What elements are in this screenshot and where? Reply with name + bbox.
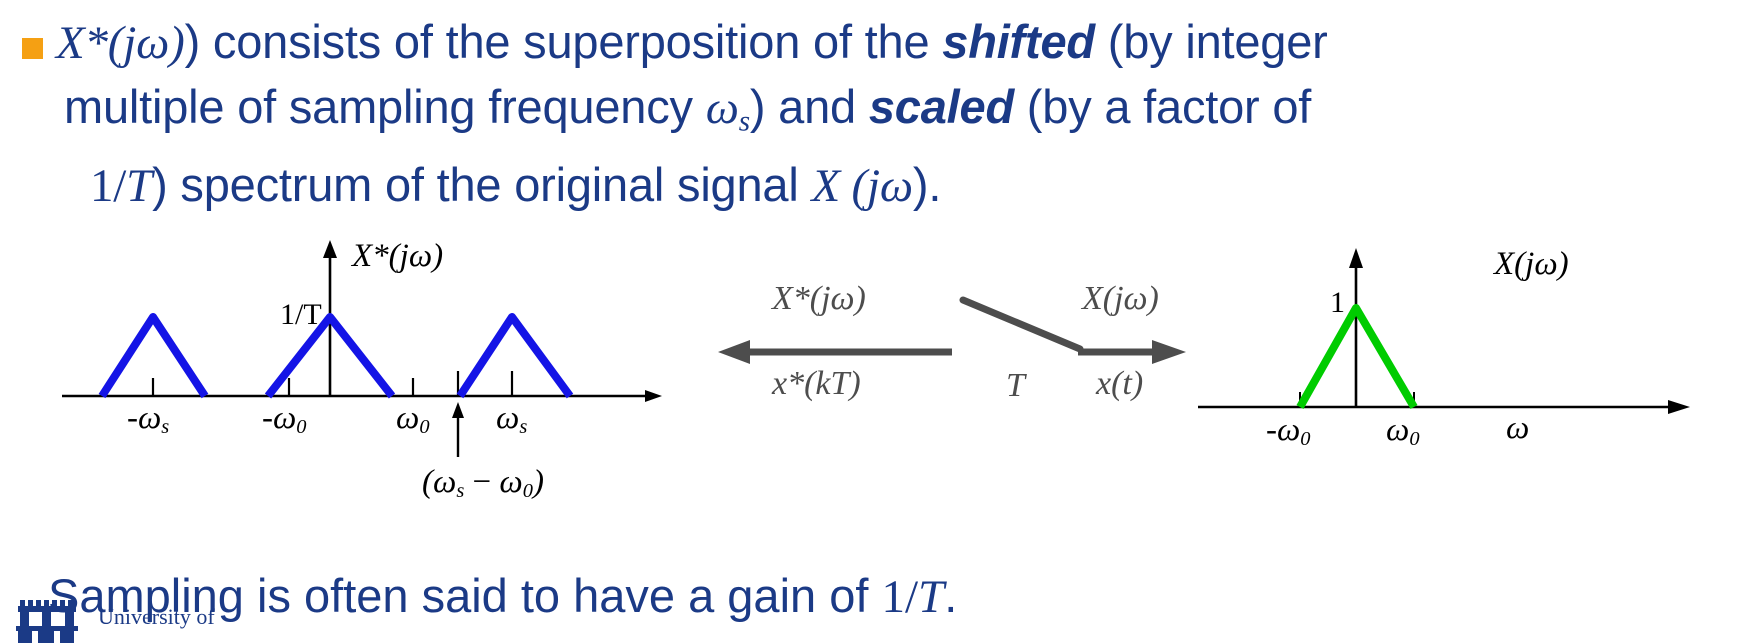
right-chart-axis-label-text: X(jω) [1494,246,1569,282]
right-chart-label-w0: ω0 [1386,412,1420,451]
bottom-statement-c: . [944,569,957,622]
right-chart-peak-label: 1 [1330,286,1345,320]
mid-left-bottom-label: x*(kT) [772,365,861,403]
mid-right-top-label: X(jω) [1082,280,1159,318]
left-chart-label-w0-text: ω [396,400,419,436]
right-chart-x-axis-label: ω [1506,410,1529,447]
bullet-l3-text-d: ). [913,158,941,211]
right-chart-peak-label-text: 1 [1330,286,1345,319]
university-wordmark-line1: University of [98,604,215,629]
mid-right-bottom-label-text: x(t) [1096,365,1143,402]
left-chart-label-ws-text: ω [496,400,519,436]
bullet-l1-text-b: ) consists of the superposition of the [185,15,943,68]
bullet-body-text: X*(jω)) consists of the superposition of… [56,10,1746,218]
bullet-l3-omega: ω [880,160,913,212]
left-chart-annotation: (ωs − ω0) [422,464,544,503]
bullet-square-icon [22,38,43,59]
right-chart-y-arrowhead [1349,248,1363,268]
university-wordmark: University of [98,606,215,628]
right-chart-axis-label: X(jω) [1494,246,1569,283]
bottom-statement-T: T [918,571,944,623]
left-chart-peak-label: 1/T [280,298,322,332]
mid-left-bottom-label-text: x*(kT) [772,365,861,402]
left-chart-label-neg-w0-text: -ω [262,400,296,436]
left-chart-annotation-minus: − [464,464,499,500]
bullet-l2-text-b: ) and [750,80,869,133]
bullet-l3-T: T [126,160,152,212]
slide-canvas: X*(jω)) consists of the superposition of… [0,0,1750,644]
left-chart-callout-arrowhead [452,402,464,418]
left-chart-annotation-ws: ω [433,464,456,500]
bullet-l3-X: X [811,160,840,212]
left-chart-label-w0: ω0 [396,400,430,439]
left-chart-label-neg-ws: -ωs [127,400,169,439]
bullet-l1-math-a: X*(j [56,17,136,69]
right-arrow-head [1152,340,1186,364]
left-chart-label-neg-w0: -ω0 [262,400,307,439]
mid-right-bottom-label: x(t) [1096,365,1143,403]
mid-switch-period-label: T [1006,367,1025,405]
left-chart-axis-label: X*(jω) [352,238,443,275]
bullet-l2-text-a: multiple of sampling frequency [64,80,706,133]
right-chart-x-arrowhead [1668,400,1690,414]
mid-switch-period-label-text: T [1006,367,1025,404]
bullet-l3-frac-a: 1/ [90,160,126,212]
sampling-figure: X*(jω) 1/T -ωs -ω0 ω0 ωs (ωs − ω0) [0,232,1750,552]
bullet-l1-text-c: (by integer [1095,15,1328,68]
left-chart-annotation-close: ) [533,464,544,500]
bullet-l2-bold-scaled: scaled [869,80,1014,133]
left-chart-axis-label-text: X*(jω) [352,238,443,274]
bullet-l3-text-c: (j [840,160,880,212]
bullet-l1-omega: ω [136,17,169,69]
bullet-l3-text-b: ) spectrum of the original signal [152,158,811,211]
left-chart-label-ws: ωs [496,400,527,439]
left-chart-label-ws-sub: s [519,416,527,438]
left-arrow-head [718,340,750,364]
sampler-switch-blade [963,300,1080,349]
right-chart-label-neg-w0-text: -ω [1266,412,1300,448]
left-chart-annotation-open: ( [422,464,433,500]
university-castle-logo-icon [14,596,92,644]
left-chart-peak-label-text: 1/T [280,298,322,331]
mid-right-top-label-text: X(jω) [1082,280,1159,317]
left-chart-label-neg-ws-text: -ω [127,400,161,436]
mid-left-top-label: X*(jω) [772,280,866,318]
bullet-l2-omega: ω [706,82,739,134]
bottom-statement-frac: 1/ [881,571,918,623]
left-chart-y-arrowhead [323,240,337,258]
right-chart-x-axis-label-text: ω [1506,410,1529,446]
left-chart-annotation-w0-sub: 0 [523,480,533,502]
left-chart-replica-pos [460,317,570,396]
left-chart-label-neg-ws-sub: s [161,416,169,438]
right-chart-label-neg-w0-sub: 0 [1300,428,1310,450]
left-chart-label-neg-w0-sub: 0 [296,416,306,438]
right-chart-label-w0-sub: 0 [1409,428,1419,450]
bullet-l2-text-c: (by a factor of [1014,80,1311,133]
mid-left-top-label-text: X*(jω) [772,280,866,317]
right-chart-label-neg-w0: -ω0 [1266,412,1311,451]
left-chart-annotation-w0: ω [499,464,522,500]
left-chart-label-w0-sub: 0 [419,416,429,438]
right-chart-label-w0-text: ω [1386,412,1409,448]
bullet-l2-omega-sub: s [739,105,750,137]
left-chart-svg [40,232,680,522]
bullet-l1-math-close: ) [169,17,184,69]
bullet-l1-bold-shifted: shifted [942,15,1095,68]
